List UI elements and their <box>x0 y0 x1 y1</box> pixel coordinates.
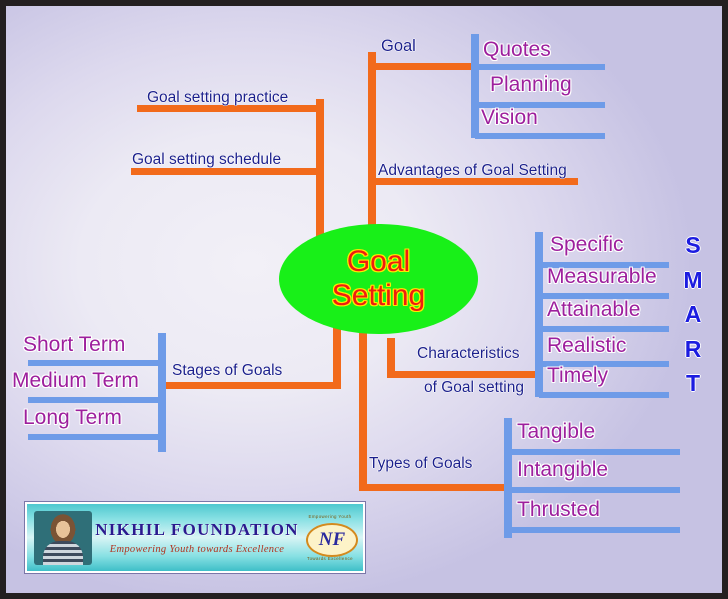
leaf-label-planning: Planning <box>490 74 572 95</box>
leaf-underline-vision <box>475 133 605 139</box>
leafgroup-characteristics-spine <box>535 232 543 397</box>
leaf-underline-attainable <box>539 326 669 332</box>
branch-label-advantages: Advantages of Goal Setting <box>378 163 567 179</box>
organization-banner: NIKHIL FOUNDATION Empowering Youth towar… <box>25 502 365 573</box>
smart-letter-m: M <box>683 263 702 298</box>
central-node-goal-setting: Goal Setting <box>279 224 478 334</box>
branch-label-schedule: Goal setting schedule <box>132 152 281 168</box>
smart-letter-a: A <box>685 297 702 332</box>
central-node-line2: Setting <box>332 279 425 313</box>
leaf-underline-short-term <box>28 360 159 366</box>
logo-arc-bottom-text: Towards Excellence <box>302 556 358 561</box>
logo-oval: NF <box>306 523 358 557</box>
branch-practice-horizontal <box>137 105 321 112</box>
trunk-right-upper-vertical <box>368 52 376 240</box>
leaf-label-thrusted: Thrusted <box>517 499 600 520</box>
leafgroup-stages-spine <box>158 333 166 452</box>
leaf-label-long-term: Long Term <box>23 407 122 428</box>
leaf-label-specific: Specific <box>550 234 624 255</box>
leaf-underline-timely <box>539 392 669 398</box>
leaf-label-measurable: Measurable <box>547 266 657 287</box>
leaf-label-medium-term: Medium Term <box>12 370 139 391</box>
smart-acrostic: S M A R T <box>678 228 708 401</box>
leaf-label-short-term: Short Term <box>23 334 125 355</box>
branch-label-types: Types of Goals <box>369 456 472 472</box>
branch-label-goal: Goal <box>381 38 416 55</box>
branch-types-horizontal <box>363 484 505 491</box>
leaf-underline-quotes <box>475 64 605 70</box>
leaf-label-timely: Timely <box>547 365 608 386</box>
smart-letter-r: R <box>685 332 702 367</box>
leafgroup-types-spine <box>504 418 512 538</box>
smart-letter-t: T <box>686 366 700 401</box>
leafgroup-goal-spine <box>471 34 479 138</box>
leaf-label-attainable: Attainable <box>547 299 640 320</box>
organization-logo-icon: Empowering Youth NF Towards Excellence <box>302 512 358 564</box>
leaf-label-realistic: Realistic <box>547 335 626 356</box>
leaf-underline-long-term <box>28 434 159 440</box>
leaf-underline-medium-term <box>28 397 159 403</box>
organization-name: NIKHIL FOUNDATION <box>94 520 300 540</box>
leaf-underline-thrusted <box>508 527 680 533</box>
trunk-left-lower-vertical <box>333 324 341 389</box>
branch-label-practice: Goal setting practice <box>147 90 288 106</box>
branch-label-stages: Stages of Goals <box>172 363 282 379</box>
branch-characteristics-horizontal <box>391 371 535 378</box>
trunk-right-lower-vertical <box>359 324 367 491</box>
leaf-label-vision: Vision <box>481 107 538 128</box>
leaf-underline-tangible <box>508 449 680 455</box>
logo-arc-top-text: Empowering Youth <box>302 514 358 519</box>
logo-monogram: NF <box>319 529 345 551</box>
central-node-line1: Goal <box>347 245 410 279</box>
smart-letter-s: S <box>685 228 700 263</box>
leaf-label-tangible: Tangible <box>517 421 595 442</box>
branch-label-characteristics-line2: of Goal setting <box>424 380 524 396</box>
leaf-label-intangible: Intangible <box>517 459 608 480</box>
branch-goal-horizontal <box>372 63 478 70</box>
branch-stages-horizontal <box>164 382 338 389</box>
branch-schedule-horizontal <box>131 168 321 175</box>
organization-tagline: Empowering Youth towards Excellence <box>94 544 300 555</box>
banner-text-block: NIKHIL FOUNDATION Empowering Youth towar… <box>92 520 302 555</box>
leaf-label-quotes: Quotes <box>483 39 551 60</box>
branch-label-characteristics-line1: Characteristics <box>417 346 520 362</box>
mind-map-canvas: Quotes Planning Vision Short Term Medium… <box>0 0 728 599</box>
branch-advantages-horizontal <box>372 178 578 185</box>
portrait-photo <box>34 511 92 565</box>
leaf-underline-intangible <box>508 487 680 493</box>
